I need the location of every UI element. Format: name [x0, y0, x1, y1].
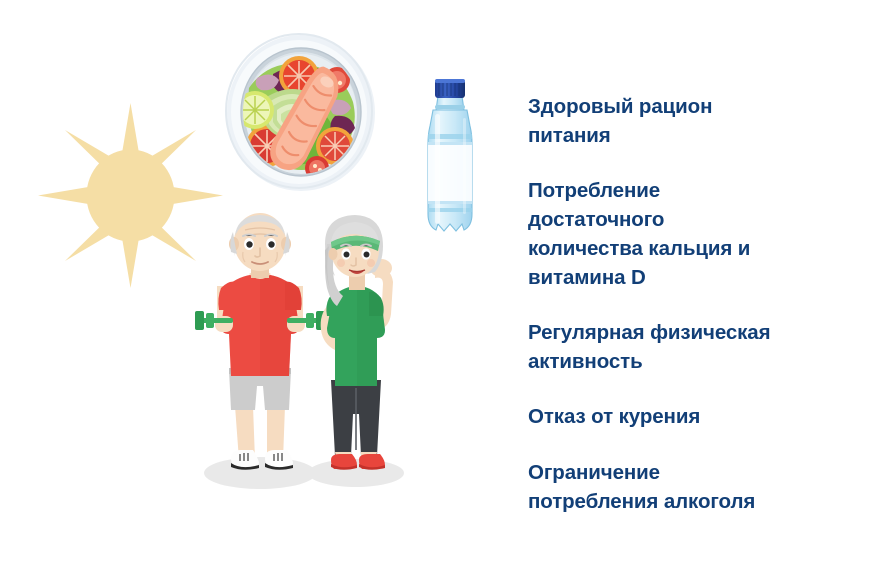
- bullet-limit-alcohol: Ограничение потребления алкоголя: [528, 458, 872, 516]
- salad-bowl-illustration: [213, 28, 388, 198]
- bullet-quit-smoking: Отказ от курения: [528, 402, 872, 431]
- elderly-couple-illustration: [185, 210, 435, 500]
- elderly-man: [195, 213, 325, 470]
- elderly-woman: [321, 215, 393, 470]
- bullet-calcium-vitamin-d: Потребление достаточного количества каль…: [528, 176, 872, 292]
- bullet-physical-activity: Регулярная физическая активность: [528, 318, 872, 376]
- benefits-list: Здоровый рацион питания Потребление дост…: [528, 92, 872, 516]
- bullet-healthy-diet: Здоровый рацион питания: [528, 92, 872, 150]
- infographic-canvas: Здоровый рацион питания Потребление дост…: [0, 0, 876, 585]
- man-shadow: [204, 457, 316, 489]
